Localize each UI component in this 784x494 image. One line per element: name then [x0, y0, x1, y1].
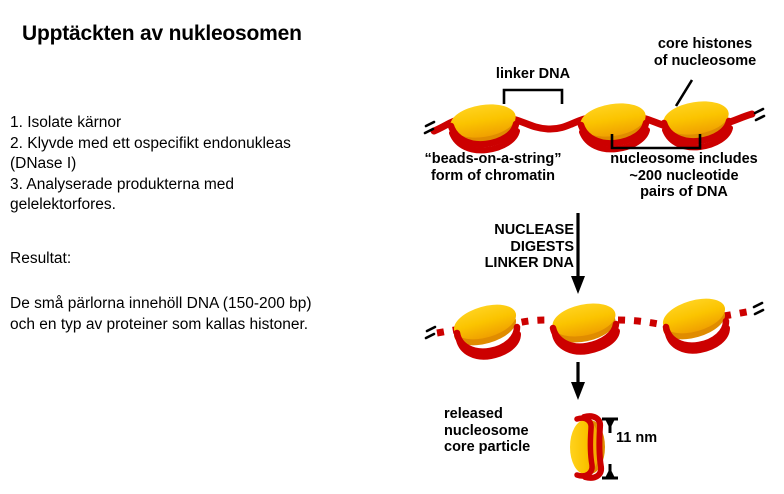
- strand-break-ticks: [426, 327, 435, 338]
- label-released-line3: core particle: [444, 439, 568, 456]
- label-core-histones-line1: core histones: [630, 36, 780, 53]
- nucleosome-diagram-svg: [0, 0, 784, 494]
- nucleosome-bead: [659, 292, 729, 350]
- label-released-line2: nucleosome: [444, 423, 568, 440]
- release-arrow: [571, 362, 585, 400]
- nucleosome-bead: [549, 298, 618, 352]
- nucleosome-bead: [661, 97, 731, 147]
- label-particle-size: 11 nm: [616, 430, 676, 447]
- label-nucleosome-includes-line1: nucleosome includes: [586, 151, 782, 168]
- label-linker-dna: linker DNA: [483, 66, 583, 83]
- nucleosome-core-particle: [570, 416, 605, 478]
- digested-dna-fragment: [724, 311, 752, 316]
- digested-dna-fragment: [618, 320, 664, 325]
- label-core-histones-line2: of nucleosome: [630, 53, 780, 70]
- label-beads-line2: form of chromatin: [404, 168, 582, 185]
- label-core-histones: core histones of nucleosome: [630, 36, 780, 69]
- label-nuclease-line3: LINKER DNA: [462, 255, 574, 272]
- core-histones-leader-line: [676, 80, 692, 106]
- label-nucleosome-includes-line2: ~200 nucleotide: [586, 168, 782, 185]
- nucleosome-bead: [448, 100, 518, 150]
- label-beads-line1: “beads-on-a-string”: [404, 151, 582, 168]
- label-nuclease-digests-linker-dna: NUCLEASE DIGESTS LINKER DNA: [462, 222, 574, 272]
- linker-dna-bracket: [504, 90, 562, 104]
- digested-chromatin-row: [426, 292, 763, 356]
- nucleosome-bead: [450, 298, 520, 356]
- label-nuclease-line1: NUCLEASE: [462, 222, 574, 239]
- nucleosome-diagram: linker DNA core histones of nucleosome “…: [0, 0, 784, 494]
- label-nucleosome-includes: nucleosome includes ~200 nucleotide pair…: [586, 151, 782, 201]
- label-beads-on-a-string: “beads-on-a-string” form of chromatin: [404, 151, 582, 184]
- chromatin-strand-row: [425, 97, 764, 150]
- strand-break-ticks: [755, 109, 764, 120]
- label-released-core-particle: released nucleosome core particle: [444, 406, 568, 456]
- label-nuclease-line2: DIGESTS: [462, 239, 574, 256]
- label-released-line1: released: [444, 406, 568, 423]
- label-nucleosome-includes-line3: pairs of DNA: [586, 184, 782, 201]
- strand-break-ticks: [754, 303, 763, 314]
